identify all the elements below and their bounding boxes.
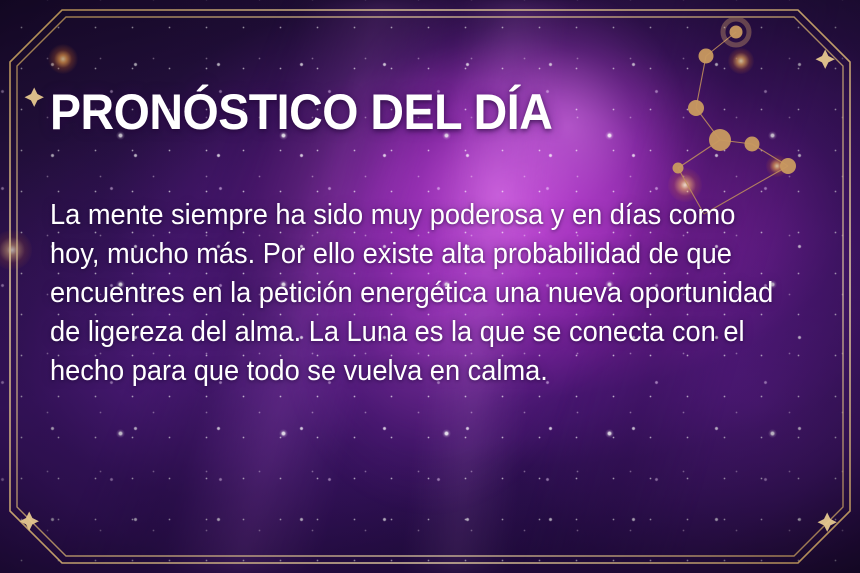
glow-star-icon xyxy=(48,44,78,74)
card-text-content: PRONÓSTICO DEL DÍA La mente siempre ha s… xyxy=(50,86,812,391)
forecast-body-text: La mente siempre ha sido muy poderosa y … xyxy=(50,138,776,391)
sparkle-icon xyxy=(816,50,835,69)
page-title: PRONÓSTICO DEL DÍA xyxy=(50,86,759,138)
sparkle-icon xyxy=(25,88,44,107)
sparkle-icon xyxy=(818,513,837,532)
horoscope-forecast-card: PRONÓSTICO DEL DÍA La mente siempre ha s… xyxy=(0,0,860,573)
sparkle-icon xyxy=(20,512,39,531)
glow-star-icon xyxy=(0,230,32,270)
glow-star-icon xyxy=(728,48,754,74)
